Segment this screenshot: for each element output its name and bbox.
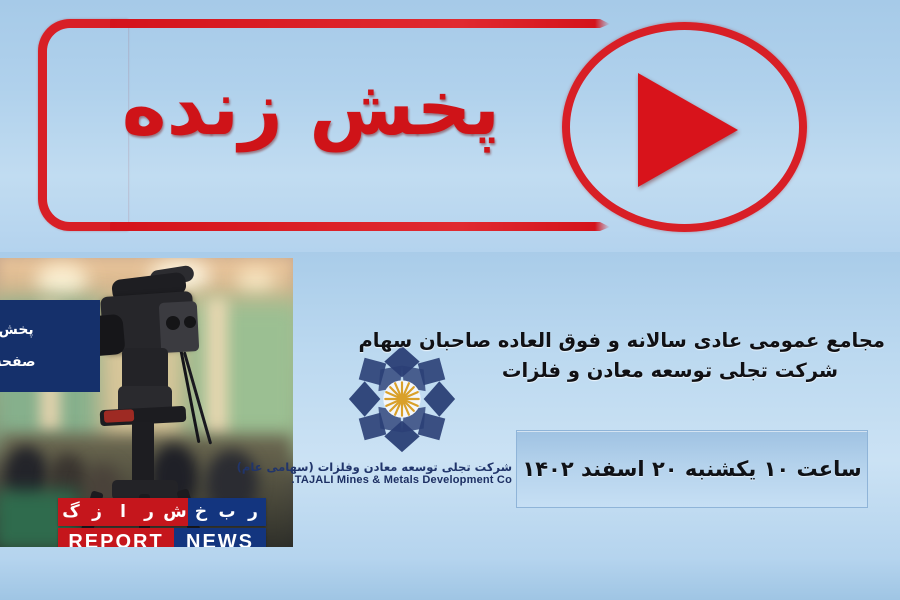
watermark-report-word: REPORT (58, 528, 174, 547)
watermark-tile: ز (84, 498, 110, 526)
overlay-line-live: پخش زنده (0, 322, 34, 338)
camera-knob (184, 316, 196, 328)
camera-knob (166, 316, 180, 330)
announcement-poster: پخش زنده (0, 0, 900, 600)
watermark-tile: ر (136, 498, 162, 526)
tajali-star-emblem-icon (343, 340, 461, 458)
red-frame-bottom-line (110, 222, 610, 231)
event-datetime-box: ساعت ۱۰ یکشنبه ۲۰ اسفند ۱۴۰۲ (516, 430, 868, 508)
play-triangle-icon[interactable] (638, 73, 738, 187)
overlay-line-news-page: صفحه خبر (0, 354, 36, 370)
headline-line-2: شرکت تجلی توسعه معادن و فلزات (455, 356, 885, 386)
photo-column (206, 298, 228, 438)
red-frame-top-line (110, 19, 610, 28)
headline-line-1: مجامع عمومی عادی سالانه و فوق العاده صاح… (455, 326, 885, 356)
camera-photo: پخش زنده صفحه خبر ر ب خ ش ر ا ز گ NEWS R… (0, 258, 293, 547)
newsreport-watermark: ر ب خ ش ر ا ز گ NEWS REPORT نخستین رسانه… (26, 498, 266, 547)
live-broadcast-banner: پخش زنده (0, 0, 900, 252)
tripod-red-marker (104, 409, 135, 423)
tajali-latin-name: TAJALI Mines & Metals Development Co. (292, 474, 512, 486)
announcement-body: پخش زنده صفحه خبر ر ب خ ش ر ا ز گ NEWS R… (0, 252, 900, 600)
photo-light (236, 268, 276, 294)
event-datetime-text: ساعت ۱۰ یکشنبه ۲۰ اسفند ۱۴۰۲ (522, 457, 861, 481)
watermark-latin: NEWS REPORT (58, 528, 266, 547)
red-frame-left-bracket (38, 19, 128, 231)
watermark-persian-tiles: ر ب خ ش ر ا ز گ (58, 498, 266, 526)
photo-light (36, 264, 88, 298)
photo-overlay-badge: پخش زنده صفحه خبر (0, 300, 100, 392)
watermark-tile: ر (240, 498, 266, 526)
watermark-tile: ا (110, 498, 136, 526)
watermark-news-word: NEWS (174, 528, 266, 547)
live-broadcast-label: پخش زنده (140, 70, 500, 146)
tripod-center-post (132, 422, 154, 486)
announcement-headline: مجامع عمومی عادی سالانه و فوق العاده صاح… (455, 326, 885, 386)
tajali-persian-name: شرکت تجلی توسعه معادن وفلزات (سهامی عام) (292, 460, 512, 474)
watermark-tile: خ (188, 498, 214, 526)
watermark-tile: ب (214, 498, 240, 526)
watermark-tile: گ (58, 498, 84, 526)
watermark-tile: ش (162, 498, 188, 526)
